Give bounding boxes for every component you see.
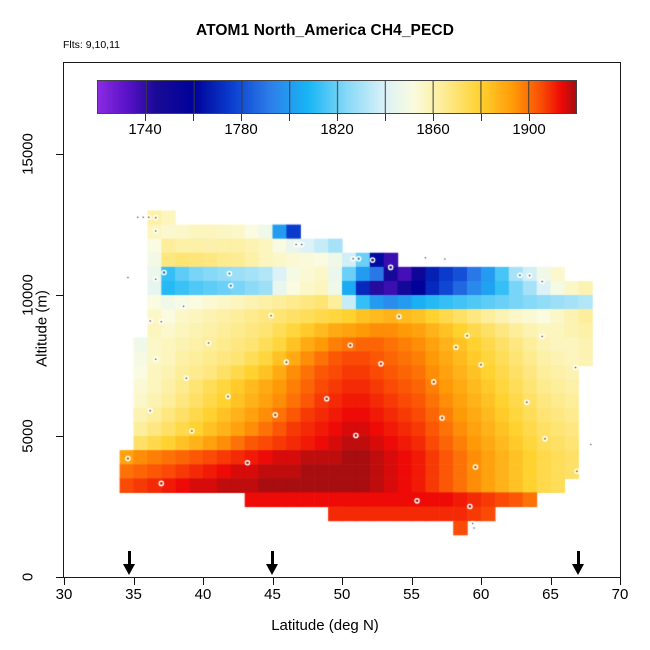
ch4-curtain-heatmap [64, 63, 620, 577]
y-axis-tick [56, 436, 63, 437]
colorbar-tick [337, 114, 338, 121]
y-axis-tick-label: 15000 [20, 127, 37, 181]
x-axis-tick [412, 578, 413, 585]
x-axis-tick [551, 578, 552, 585]
y-axis-tick-label: 5000 [20, 409, 37, 463]
flights-label: Flts: 9,10,11 [63, 39, 120, 51]
x-axis-tick-label: 65 [542, 586, 559, 603]
y-axis-tick [56, 577, 63, 578]
x-axis-tick [134, 578, 135, 585]
colorbar-tick [145, 114, 146, 121]
x-axis-tick [342, 578, 343, 585]
y-axis-tick [56, 295, 63, 296]
colorbar-tick-label: 1860 [416, 121, 449, 138]
colorbar-tick [241, 114, 242, 121]
colorbar-gradient [97, 80, 577, 114]
colorbar: 17401780182018601900 [97, 80, 577, 114]
x-axis-tick-label: 60 [473, 586, 490, 603]
x-axis-title: Latitude (deg N) [0, 617, 650, 634]
y-axis-tick-label: 10000 [20, 268, 37, 322]
colorbar-tick-label: 1740 [128, 121, 161, 138]
x-axis-tick-label: 45 [264, 586, 281, 603]
x-axis-tick-label: 40 [195, 586, 212, 603]
x-axis-tick-label: 70 [612, 586, 629, 603]
colorbar-tick [529, 114, 530, 121]
colorbar-tick-label: 1780 [224, 121, 257, 138]
x-axis-tick [481, 578, 482, 585]
colorbar-tick-label: 1900 [512, 121, 545, 138]
y-axis-tick-label: 0 [20, 550, 37, 604]
colorbar-tick [433, 114, 434, 121]
profile-marker-arrow [123, 551, 136, 575]
y-axis-tick [56, 154, 63, 155]
x-axis-tick [273, 578, 274, 585]
x-axis-tick-label: 50 [334, 586, 351, 603]
x-axis-tick-label: 55 [403, 586, 420, 603]
profile-marker-arrow [572, 551, 585, 575]
page-title: ATOM1 North_America CH4_PECD [0, 22, 650, 40]
colorbar-tick [481, 114, 482, 121]
x-axis-tick-label: 30 [56, 586, 73, 603]
colorbar-tick [289, 114, 290, 121]
x-axis-tick [203, 578, 204, 585]
x-axis-tick-label: 35 [125, 586, 142, 603]
profile-marker-arrow [266, 551, 279, 575]
x-axis-tick [64, 578, 65, 585]
colorbar-tick [385, 114, 386, 121]
colorbar-tick [193, 114, 194, 121]
figure-root: ATOM1 North_America CH4_PECD Flts: 9,10,… [0, 0, 650, 650]
colorbar-tick-label: 1820 [320, 121, 353, 138]
x-axis-tick [620, 578, 621, 585]
